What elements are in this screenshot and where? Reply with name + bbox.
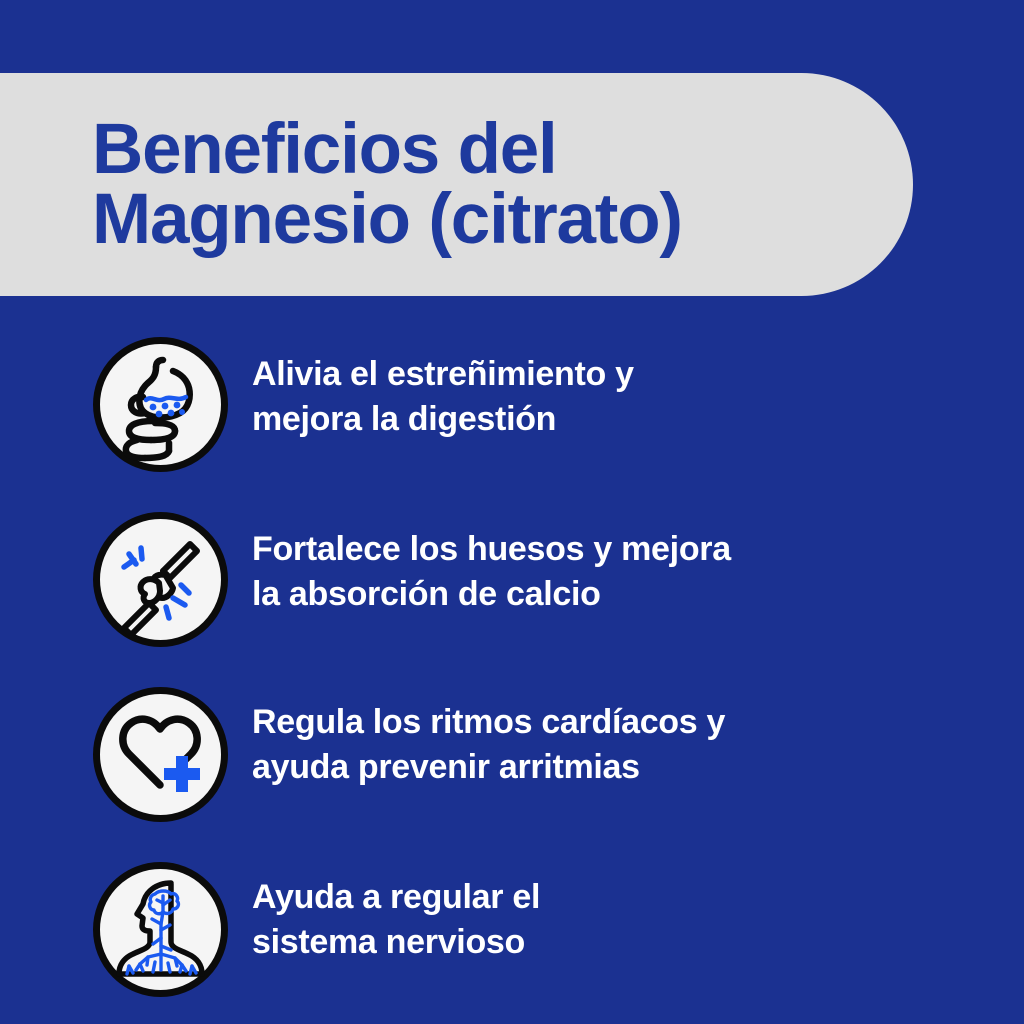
page-title: Beneficios del Magnesio (citrato) [92, 115, 853, 254]
benefit-item-bones: Fortalece los huesos y mejora la absorci… [0, 505, 1024, 680]
stomach-intestine-icon [93, 337, 228, 472]
benefit-text-digestion: Alivia el estreñimiento y mejora la dige… [252, 352, 1024, 442]
benefit-text-heart: Regula los ritmos cardíacos y ayuda prev… [252, 700, 1024, 790]
benefit-item-digestion: Alivia el estreñimiento y mejora la dige… [0, 330, 1024, 505]
benefit-icon-container [93, 337, 228, 472]
benefit-text-bones: Fortalece los huesos y mejora la absorci… [252, 527, 1024, 617]
heart-plus-icon [93, 687, 228, 822]
benefit-icon-container [93, 512, 228, 647]
benefit-icon-container [93, 862, 228, 997]
benefit-text-nervous-system: Ayuda a regular el sistema nervioso [252, 875, 1024, 965]
head-brain-nerves-icon [93, 862, 228, 997]
infographic-poster: Beneficios del Magnesio (citrato) [0, 0, 1024, 1024]
benefits-list: Alivia el estreñimiento y mejora la dige… [0, 330, 1024, 1024]
bone-joint-icon [93, 512, 228, 647]
benefit-icon-container [93, 687, 228, 822]
benefit-item-nervous-system: Ayuda a regular el sistema nervioso [0, 855, 1024, 1024]
title-banner: Beneficios del Magnesio (citrato) [0, 73, 913, 296]
benefit-item-heart: Regula los ritmos cardíacos y ayuda prev… [0, 680, 1024, 855]
